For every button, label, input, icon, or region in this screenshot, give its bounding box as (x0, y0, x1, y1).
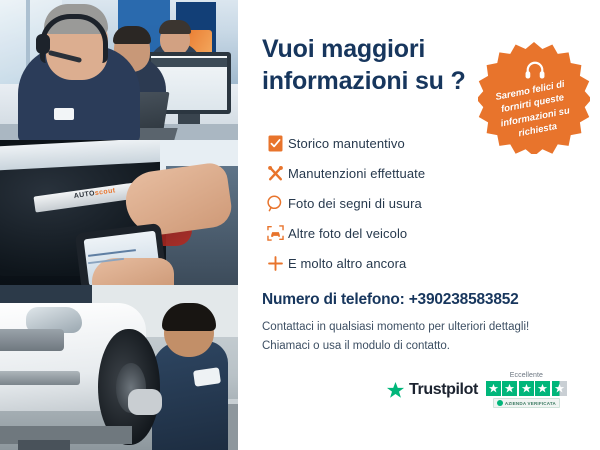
content-panel: Vuoi maggiori informazioni su ? Saremo f… (238, 0, 600, 450)
feature-item-altre-foto[interactable]: Altre foto del veicolo (262, 218, 492, 248)
trustpilot-logo: Trustpilot (386, 381, 478, 400)
trustpilot-widget[interactable]: Trustpilot Eccellente (386, 372, 567, 408)
car-photo-icon (262, 222, 288, 244)
trustpilot-wordmark: Trustpilot (409, 381, 478, 399)
feature-label: E molto altro ancora (288, 256, 406, 271)
star-1 (486, 381, 501, 396)
plus-icon (262, 252, 288, 274)
contact-note-line-2: Chiamaci o usa il modulo di contatto. (262, 337, 572, 356)
wrenches-icon (262, 162, 288, 184)
checklist-icon (262, 132, 288, 154)
feature-label: Altre foto del veicolo (288, 226, 407, 241)
star-2 (502, 381, 517, 396)
verified-check-icon (497, 400, 503, 406)
verified-badge: AZIENDA VERIFICATA (493, 398, 560, 408)
promo-banner: AUTOscout (0, 0, 600, 450)
phone-number[interactable]: Numero di telefono: +390238583852 (262, 291, 519, 309)
request-info-badge: Saremo felici di fornirti queste informa… (478, 42, 590, 154)
trustpilot-star-icon (386, 381, 405, 400)
feature-label: Manutenzioni effettuate (288, 166, 425, 181)
star-4 (535, 381, 550, 396)
feature-item-manutenzioni[interactable]: Manutenzioni effettuate (262, 158, 492, 188)
call-center-photo (0, 0, 238, 140)
trustpilot-rating: Eccellente (486, 372, 567, 408)
headset-icon (523, 60, 547, 80)
feature-label: Foto dei segni di usura (288, 196, 422, 211)
vehicle-inspection-photo: AUTOscout (0, 140, 238, 285)
contact-note: Contattaci in qualsiasi momento per ulte… (262, 318, 572, 355)
feature-item-foto-usura[interactable]: Foto dei segni di usura (262, 188, 492, 218)
photo-column: AUTOscout (0, 0, 238, 450)
verified-label: AZIENDA VERIFICATA (505, 401, 556, 406)
feature-label: Storico manutentivo (288, 136, 405, 151)
star-5-half (552, 381, 567, 396)
feature-item-storico[interactable]: Storico manutentivo (262, 128, 492, 158)
mechanic-wheel-photo (0, 285, 238, 450)
rating-label: Eccellente (510, 372, 543, 379)
feature-list: Storico manutentivo Manutenzioni effettu… (262, 128, 492, 278)
star-rating (486, 381, 567, 396)
contact-note-line-1: Contattaci in qualsiasi momento per ulte… (262, 318, 572, 337)
feature-item-altro[interactable]: E molto altro ancora (262, 248, 492, 278)
page-title: Vuoi maggiori informazioni su ? (262, 34, 482, 98)
magnifier-icon (262, 192, 288, 214)
star-3 (519, 381, 534, 396)
